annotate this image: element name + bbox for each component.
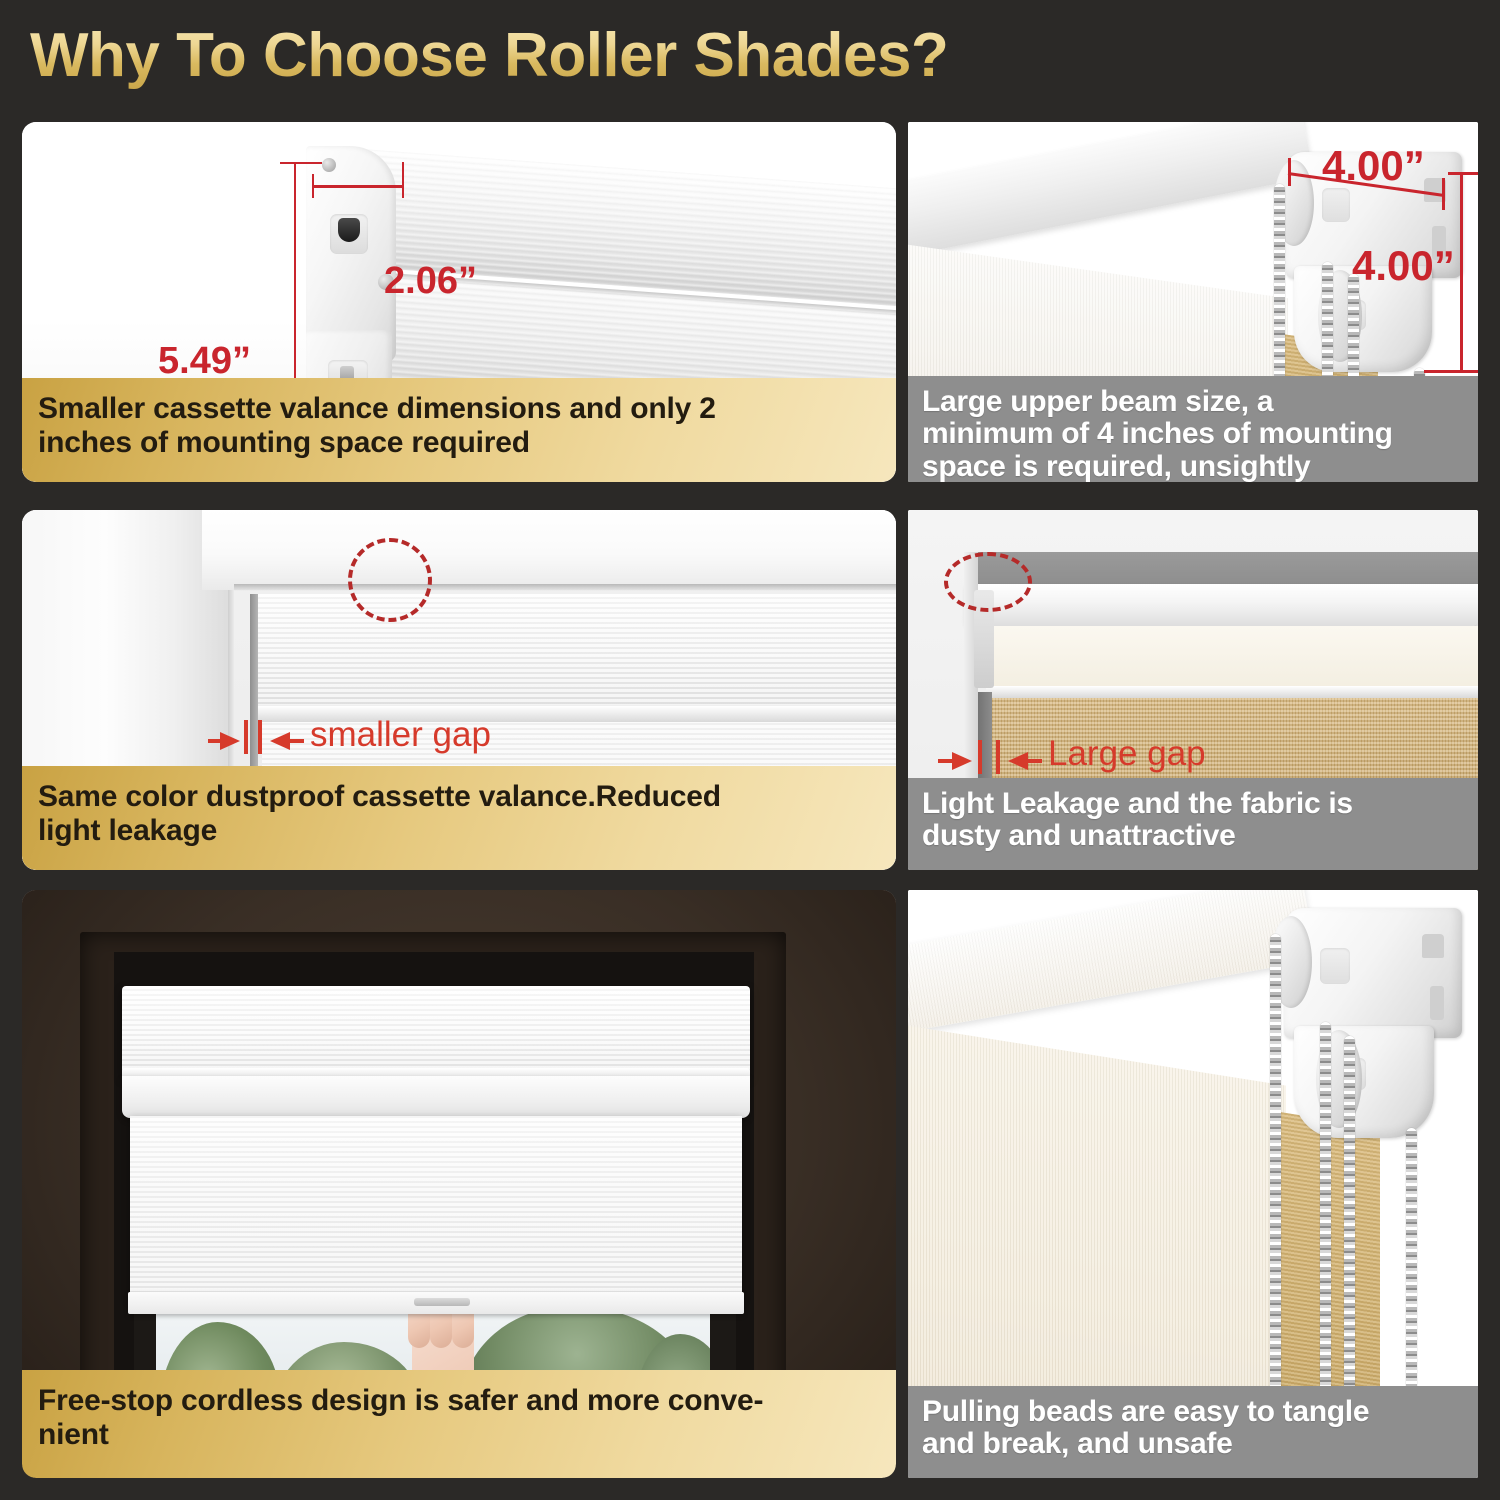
gap4-arrow-left-tail	[938, 759, 956, 763]
panel-large-upper-beam: 4.00” 4.00” Large upper beam size, a min…	[908, 122, 1478, 482]
caption-line: and break, and unsafe	[922, 1428, 1369, 1460]
gap-arrow-right-tail	[288, 739, 304, 743]
dim2-height-tick-bottom	[1424, 370, 1478, 373]
dim2-width-tick-left	[1288, 158, 1291, 186]
dim2-height-tick-top	[1448, 172, 1478, 175]
panel-3-caption: Same color dustproof cassette valance.Re…	[22, 766, 896, 870]
highlight-circle-leakage	[944, 552, 1032, 612]
gap-arrow-right	[270, 732, 290, 750]
cassette-valance	[122, 986, 750, 1076]
panel-4-caption: Light Leakage and the fabric is dusty an…	[908, 778, 1478, 870]
dim-width-label: 2.06”	[384, 260, 477, 303]
panel-light-leakage: Large gap Light Leakage and the fabric i…	[908, 510, 1478, 870]
bottom-bar-grip	[414, 1298, 470, 1306]
caption-line: inches of mounting space required	[38, 426, 716, 460]
panel-6-caption: Pulling beads are easy to tangle and bre…	[908, 1386, 1478, 1478]
screw-icon-top	[322, 158, 336, 172]
dim2-height-line	[1460, 172, 1463, 372]
gap-tick-1	[244, 720, 248, 754]
panel-dustproof-valance: smaller gap Same color dustproof cassett…	[22, 510, 896, 870]
caption-line: Light Leakage and the fabric is	[922, 788, 1353, 820]
dim2-height-label: 4.00”	[1352, 242, 1455, 290]
gap4-tick-1	[978, 740, 982, 774]
rolled-fabric-tube	[908, 890, 1317, 1033]
dim-height-tick-top	[280, 162, 322, 164]
gap4-tick-2	[996, 740, 1000, 774]
caption-line: light leakage	[38, 814, 721, 848]
roller-shade-fabric	[130, 1116, 742, 1298]
panel-2-caption: Large upper beam size, a minimum of 4 in…	[908, 376, 1478, 482]
cream-fabric-lip	[986, 686, 1478, 698]
roller-tube-white	[966, 584, 1478, 626]
dim2-width-label: 4.00”	[1322, 142, 1425, 190]
gap4-arrow-right-tail	[1026, 759, 1042, 763]
caption-line: minimum of 4 inches of mounting	[922, 418, 1393, 450]
title-bar: Why To Choose Roller Shades?	[0, 0, 1500, 112]
gap-tick-2	[258, 720, 262, 754]
caption-line: Pulling beads are easy to tangle	[922, 1396, 1369, 1428]
window-header-shadow	[234, 584, 896, 591]
gap-arrow-left-tail	[208, 739, 224, 743]
caption-line: Same color dustproof cassette valance.Re…	[38, 780, 721, 814]
bracket-slot-upper	[1422, 934, 1444, 958]
bracket-slot-lower	[1430, 986, 1444, 1020]
bracket-emboss-upper	[1322, 188, 1350, 222]
rolled-fabric-tube	[908, 122, 1314, 259]
bracket-emboss-upper	[1320, 948, 1350, 984]
ceiling-shadow-band	[968, 552, 1478, 588]
dim-height-label: 5.49”	[158, 340, 251, 383]
panel-cordless-design: Free-stop cordless design is safer and m…	[22, 890, 896, 1478]
gap-label-smaller: smaller gap	[310, 715, 491, 755]
caption-line: dusty and unattractive	[922, 820, 1353, 852]
panel-5-caption: Free-stop cordless design is safer and m…	[22, 1370, 896, 1478]
caption-line: nient	[38, 1418, 763, 1452]
valance-roll-curve	[122, 1076, 750, 1118]
panel-pulling-beads: Pulling beads are easy to tangle and bre…	[908, 890, 1478, 1478]
gap-label-large: Large gap	[1048, 734, 1206, 774]
caption-line: Large upper beam size, a	[922, 386, 1393, 418]
caption-line: space is required, unsightly	[922, 451, 1393, 482]
panel-smaller-cassette: 5.49” 2.06” Smaller cassette valance dim…	[22, 122, 896, 482]
idler-socket-hole	[338, 218, 360, 242]
dim-height-line	[294, 162, 296, 408]
dim2-width-tick-right	[1442, 178, 1445, 210]
dim-width-tick-left	[312, 174, 314, 198]
highlight-circle-tight-fit	[348, 538, 432, 622]
dim-width-line	[312, 185, 404, 188]
window-header-trim	[202, 510, 896, 590]
page-title: Why To Choose Roller Shades?	[30, 20, 948, 91]
cassette-valance-front	[258, 594, 896, 714]
panel-1-caption: Smaller cassette valance dimensions and …	[22, 378, 896, 482]
gap4-arrow-right	[1008, 752, 1028, 770]
caption-line: Free-stop cordless design is safer and m…	[38, 1384, 763, 1418]
caption-line: Smaller cassette valance dimensions and …	[38, 392, 716, 426]
dim-width-tick-right	[402, 162, 404, 198]
cream-fabric-band	[990, 626, 1478, 690]
